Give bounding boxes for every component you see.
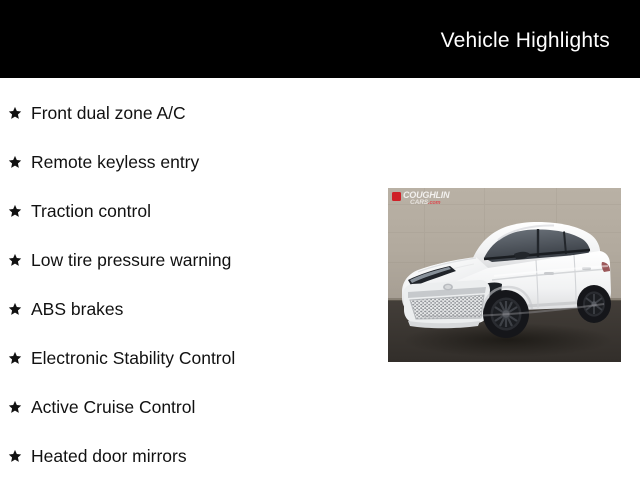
star-icon [8,253,22,267]
list-item-label: Traction control [31,201,151,221]
list-item: Electronic Stability Control [0,333,380,382]
star-icon [8,449,22,463]
page-title: Vehicle Highlights [441,28,610,54]
list-item-label: ABS brakes [31,299,123,319]
list-item-label: Electronic Stability Control [31,348,235,368]
list-item-label: Heated door mirrors [31,446,187,466]
vehicle-photo-image [388,188,621,362]
vehicle-photo[interactable]: COUGHLIN CARS.com [388,188,621,362]
star-icon [8,351,22,365]
list-item: Front dual zone A/C [0,88,380,137]
star-icon [8,400,22,414]
list-item-label: Remote keyless entry [31,152,199,172]
star-icon [8,302,22,316]
list-item-label: Active Cruise Control [31,397,195,417]
list-item: Low tire pressure warning [0,235,380,284]
list-item: Traction control [0,186,380,235]
list-item: ABS brakes [0,284,380,333]
list-item: Remote keyless entry [0,137,380,186]
star-icon [8,204,22,218]
list-item: Active Cruise Control [0,382,380,431]
list-item-label: Low tire pressure warning [31,250,231,270]
star-icon [8,155,22,169]
list-item: Heated door mirrors [0,431,380,480]
star-icon [8,106,22,120]
vehicle-highlights-list: Front dual zone A/C Remote keyless entry… [0,88,380,480]
list-item-label: Front dual zone A/C [31,103,186,123]
header-bar: Vehicle Highlights [0,0,640,78]
